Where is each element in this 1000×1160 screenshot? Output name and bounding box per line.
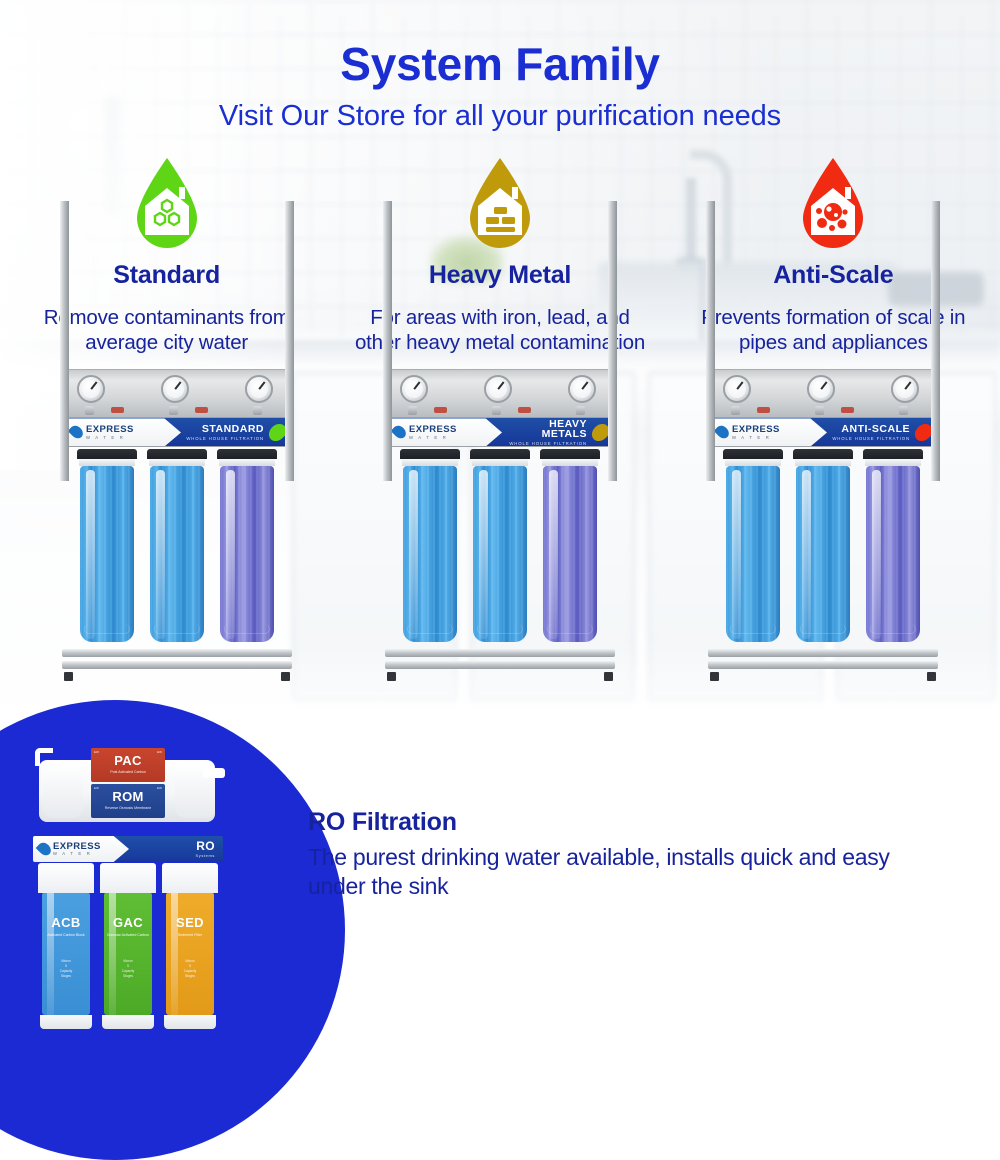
system-model-subtitle: WHOLE HOUSE FILTRATION (186, 437, 264, 441)
stand-foot (710, 672, 719, 681)
brand-plate: EXPRESS W A T E R (709, 418, 827, 446)
system-label-band: EXPRESS W A T E R HEAVY METALS WHOLE HOU… (385, 417, 615, 447)
stand-foot (927, 672, 936, 681)
filter-systems-row: EXPRESS W A T E R STANDARD WHOLE HOUSE F… (0, 369, 1000, 681)
pressure-gauge-bracket (64, 369, 290, 417)
pressure-gauge-icon (161, 375, 189, 403)
brand-drop-icon (36, 840, 54, 858)
filter-housing (793, 449, 853, 647)
ro-filter-sed: SED Sediment Filter Micron5CapacityStage… (162, 863, 218, 1029)
ro-filter-row: ACB Activated Carbon Block Micron5Capaci… (33, 863, 223, 1029)
brand-name: EXPRESS (732, 425, 780, 435)
pressure-gauge-icon (568, 375, 596, 403)
brand-plate: EXPRESS W A T E R (33, 836, 129, 862)
ro-model-name: RO (195, 840, 215, 852)
ro-fitting-icon (203, 768, 225, 778)
brand-name: EXPRESS (53, 842, 101, 852)
system-model-name: HEAVY METALS (502, 419, 587, 440)
system-model-subtitle: WHOLE HOUSE FILTRATION (832, 437, 910, 441)
pressure-gauge-bracket (387, 369, 613, 417)
category-description: Prevents formation of scale in pipes and… (667, 306, 1000, 355)
stand-foot (604, 672, 613, 681)
filter-label: GAC (104, 915, 152, 930)
relief-valve-icon (434, 407, 447, 413)
brand-drop-icon (391, 424, 409, 442)
page-title: System Family (0, 40, 1000, 88)
cartridge-tag: EW (157, 750, 162, 754)
pressure-gauge-bracket (710, 369, 936, 417)
filter-housing (147, 449, 207, 647)
brand-drop-icon (714, 424, 732, 442)
filter-spec: Micron5CapacityStages (166, 959, 214, 980)
relief-valve-icon (757, 407, 770, 413)
ro-cartridge-rom: EW EW ROM Reverse Osmosis Membrane (91, 784, 165, 818)
filter-sub: Granular Activated Carbon (104, 933, 152, 938)
filter-label: SED (166, 915, 214, 930)
stand-post (706, 201, 715, 481)
stand-post (60, 201, 69, 481)
filter-spec: Micron5CapacityStages (42, 959, 90, 980)
cartridge-name: ROM (91, 789, 165, 804)
relief-valve-icon (195, 407, 208, 413)
pressure-gauge-icon (400, 375, 428, 403)
port-fitting-icon (492, 406, 501, 415)
ro-cartridge-pac: EW EW PAC Post Activated Carbon (91, 748, 165, 782)
port-fitting-icon (253, 406, 262, 415)
system-label-band: EXPRESS W A T E R ANTI-SCALE WHOLE HOUSE… (708, 417, 938, 447)
relief-valve-icon (518, 407, 531, 413)
ro-filter-gac: GAC Granular Activated Carbon Micron5Cap… (100, 863, 156, 1029)
relief-valve-icon (111, 407, 124, 413)
filter-housing (400, 449, 460, 647)
page-subtitle: Visit Our Store for all your purificatio… (0, 100, 1000, 133)
filter-housing (723, 449, 783, 647)
cartridge-name: PAC (91, 753, 165, 768)
ro-filter-acb: ACB Activated Carbon Block Micron5Capaci… (38, 863, 94, 1029)
port-fitting-icon (815, 406, 824, 415)
category-name: Anti-Scale (667, 261, 1000, 290)
system-model-name: ANTI-SCALE (832, 424, 910, 435)
category-standard[interactable]: Standard Remove contaminants from averag… (0, 155, 333, 355)
stand-frame (60, 647, 294, 681)
filter-housings (706, 447, 940, 647)
ro-membrane-housing (43, 764, 83, 818)
category-description: Remove contaminants from average city wa… (0, 306, 333, 355)
green-water-drop-house-molecules-icon (129, 155, 205, 255)
port-fitting-icon (85, 406, 94, 415)
filter-label: ACB (42, 915, 90, 930)
red-water-drop-house-scale-icon (795, 155, 871, 255)
filter-housing (540, 449, 600, 647)
stand-post (608, 201, 617, 481)
brand-subtitle: W A T E R (732, 436, 780, 440)
filter-system-heavy-metals[interactable]: EXPRESS W A T E R HEAVY METALS WHOLE HOU… (383, 369, 617, 681)
filter-housing (863, 449, 923, 647)
filter-spec: Micron5CapacityStages (104, 959, 152, 980)
pressure-gauge-icon (807, 375, 835, 403)
ro-spigot-icon (35, 748, 53, 766)
system-model-subtitle: WHOLE HOUSE FILTRATION (502, 442, 587, 446)
stand-frame (706, 647, 940, 681)
port-fitting-icon (408, 406, 417, 415)
brand-plate: EXPRESS W A T E R (386, 418, 502, 446)
stand-frame (383, 647, 617, 681)
stand-foot (64, 672, 73, 681)
filter-housing (217, 449, 277, 647)
ro-head-assembly: EW EW PAC Post Activated Carbon EW EW RO… (33, 742, 223, 834)
brand-drop-icon (68, 424, 86, 442)
header: System Family Visit Our Store for all yo… (0, 0, 1000, 133)
cartridge-tag: EW (94, 750, 99, 754)
pressure-gauge-icon (891, 375, 919, 403)
stand-foot (281, 672, 290, 681)
brand-subtitle: W A T E R (409, 436, 457, 440)
cartridge-sub: Reverse Osmosis Membrane (91, 806, 165, 811)
filter-sub: Activated Carbon Block (42, 933, 90, 938)
ro-description: The purest drinking water available, ins… (308, 843, 948, 902)
stand-post (285, 201, 294, 481)
filter-housings (383, 447, 617, 647)
filter-system-standard[interactable]: EXPRESS W A T E R STANDARD WHOLE HOUSE F… (60, 369, 294, 681)
filter-housing (470, 449, 530, 647)
ro-text-block: RO Filtration The purest drinking water … (308, 808, 948, 902)
port-fitting-icon (169, 406, 178, 415)
system-model-name: STANDARD (186, 424, 264, 435)
cartridge-tag: EW (157, 786, 162, 790)
brand-subtitle: W A T E R (86, 436, 134, 440)
system-label-band: EXPRESS W A T E R STANDARD WHOLE HOUSE F… (62, 417, 292, 447)
category-name: Standard (0, 261, 333, 290)
category-row: Standard Remove contaminants from averag… (0, 155, 1000, 355)
gold-water-drop-house-bars-icon (462, 155, 538, 255)
cartridge-sub: Post Activated Carbon (91, 770, 165, 775)
filter-system-anti-scale[interactable]: EXPRESS W A T E R ANTI-SCALE WHOLE HOUSE… (706, 369, 940, 681)
filter-housing (77, 449, 137, 647)
filter-sub: Sediment Filter (166, 933, 214, 938)
pressure-gauge-icon (245, 375, 273, 403)
category-anti-scale[interactable]: Anti-Scale Prevents formation of scale i… (667, 155, 1000, 355)
pressure-gauge-icon (77, 375, 105, 403)
relief-valve-icon (841, 407, 854, 413)
stand-post (383, 201, 392, 481)
cartridge-tag: EW (94, 786, 99, 790)
pressure-gauge-icon (484, 375, 512, 403)
port-fitting-icon (731, 406, 740, 415)
ro-title: RO Filtration (308, 808, 948, 837)
brand-name: EXPRESS (86, 425, 134, 435)
brand-name: EXPRESS (409, 425, 457, 435)
ro-label-band: EXPRESS W A T E R RO Systems (33, 836, 223, 862)
ro-system-product[interactable]: EW EW PAC Post Activated Carbon EW EW RO… (33, 742, 223, 1012)
port-fitting-icon (576, 406, 585, 415)
pressure-gauge-icon (723, 375, 751, 403)
brand-plate: EXPRESS W A T E R (63, 418, 181, 446)
port-fitting-icon (899, 406, 908, 415)
stand-foot (387, 672, 396, 681)
ro-model-subtitle: Systems (195, 854, 215, 858)
filter-housings (60, 447, 294, 647)
stand-post (931, 201, 940, 481)
brand-subtitle: W A T E R (53, 852, 101, 856)
